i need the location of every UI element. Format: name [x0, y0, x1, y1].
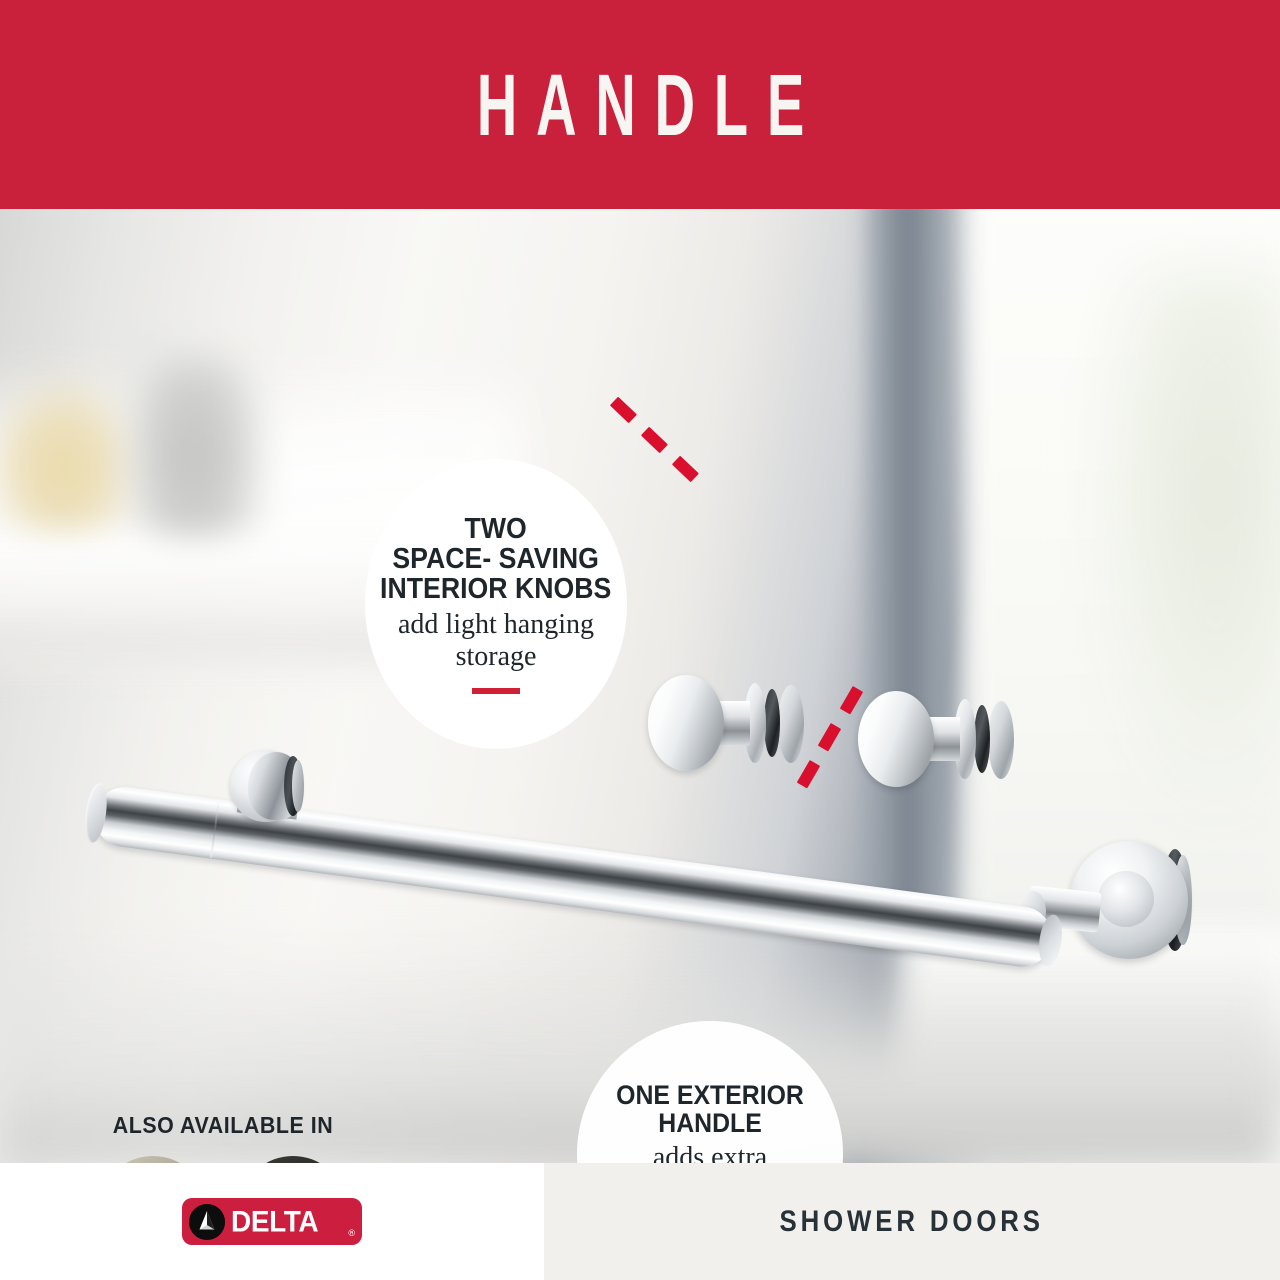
callout-headline: TWO SPACE- SAVING INTERIOR KNOBS: [380, 514, 611, 604]
swatch-color-dot: [244, 1156, 342, 1163]
callout-headline-line: SPACE- SAVING: [380, 544, 611, 574]
handle-end-cap-left: [82, 782, 110, 844]
footer-category-area: SHOWER DOORS: [544, 1163, 1280, 1280]
product-scene: TWO SPACE- SAVING INTERIOR KNOBS add lig…: [0, 209, 1280, 1163]
swatch-color-dot: [104, 1156, 202, 1163]
alternate-finishes: ALSO AVAILABLE IN BRUSHED NICKEL MATTE B…: [88, 1112, 358, 1163]
delta-wordmark: DELTA: [231, 1205, 318, 1239]
swatch-row: BRUSHED NICKEL MATTE BLACK: [88, 1156, 358, 1163]
swatch-option-brushed-nickel[interactable]: BRUSHED NICKEL: [103, 1156, 203, 1163]
callout-rule: [472, 688, 520, 694]
callout-interior-knobs: TWO SPACE- SAVING INTERIOR KNOBS add lig…: [365, 459, 627, 749]
alternate-finishes-title: ALSO AVAILABLE IN: [97, 1112, 348, 1139]
footer: DELTA ® SHOWER DOORS: [0, 1163, 1280, 1280]
footer-brand-area: DELTA ®: [0, 1163, 544, 1280]
mount-hub: [1098, 871, 1154, 927]
registered-mark: ®: [348, 1228, 355, 1238]
callout-subtext: add light hanging storage: [398, 609, 594, 672]
callout-subtext-line: storage: [398, 641, 594, 672]
exterior-handle-bar: [0, 209, 1280, 1163]
swatch-option-matte-black[interactable]: MATTE BLACK: [243, 1156, 343, 1163]
callout-headline-line: TWO: [380, 514, 611, 544]
infographic-canvas: HANDLE: [0, 0, 1280, 1280]
callout-headline-line: HANDLE: [616, 1109, 804, 1137]
callout-headline: ONE EXTERIOR HANDLE: [616, 1081, 804, 1137]
callout-headline-line: INTERIOR KNOBS: [380, 574, 611, 604]
callout-subtext-line: add light hanging: [398, 609, 594, 640]
mount-rim: [292, 760, 304, 812]
callout-headline-line: ONE EXTERIOR: [616, 1081, 804, 1109]
callout-subtext-line: adds extra: [635, 1142, 785, 1163]
delta-triangle-icon: [189, 1204, 225, 1240]
header-banner: HANDLE: [0, 0, 1280, 209]
footer-category-label: SHOWER DOORS: [780, 1205, 1044, 1239]
handle-mount-right: [1070, 837, 1205, 972]
callout-subtext: adds extra towel storage: [635, 1142, 785, 1163]
page-title: HANDLE: [457, 61, 822, 148]
handle-mount-left: [222, 750, 314, 842]
delta-logo[interactable]: DELTA ®: [182, 1198, 362, 1245]
handle-seam: [210, 800, 220, 858]
